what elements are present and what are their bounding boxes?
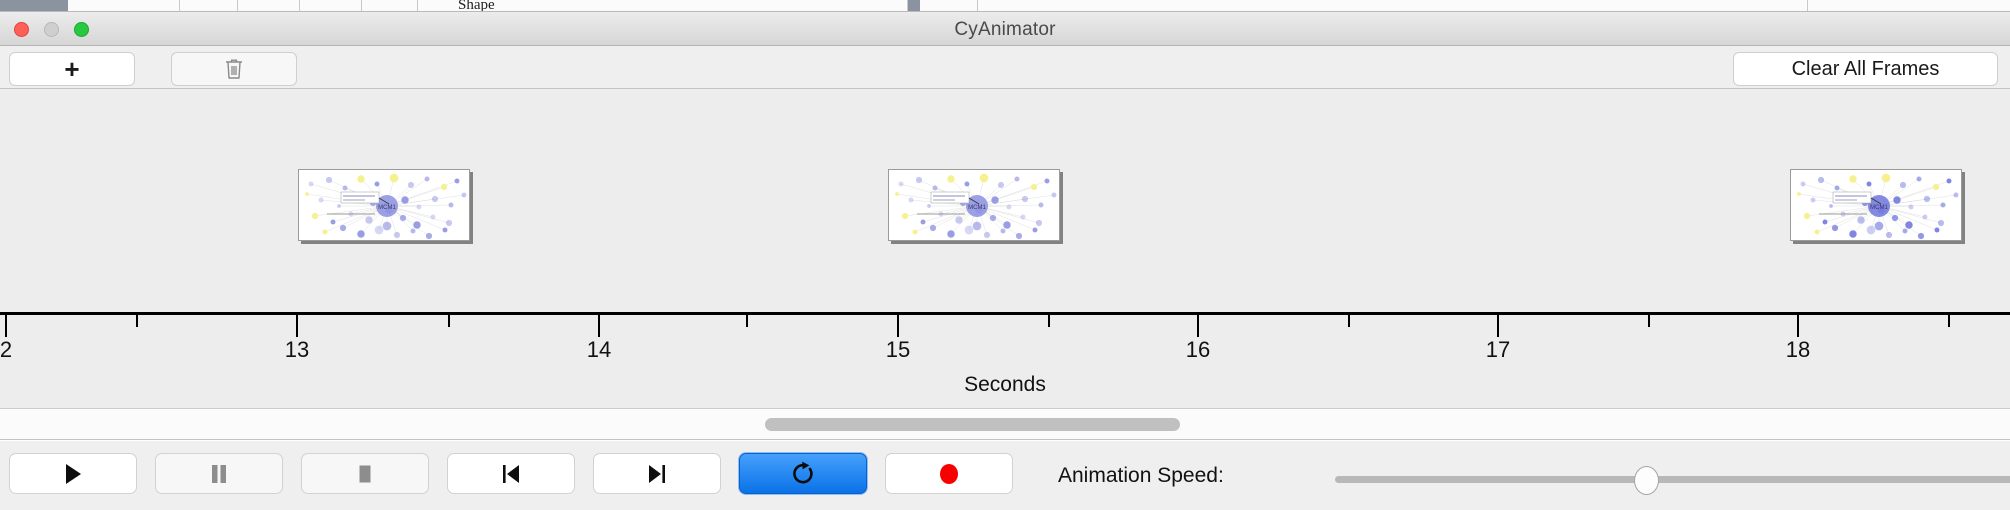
record-button[interactable] [885, 453, 1013, 494]
axis-tick [296, 315, 298, 337]
svg-text:MCM1: MCM1 [1870, 205, 1888, 211]
axis-tick [1048, 315, 1050, 327]
title-bar: CyAnimator [0, 12, 2010, 46]
axis-tick [1497, 315, 1499, 337]
stop-icon [354, 462, 376, 486]
axis-tick-label: 16 [1186, 337, 1210, 363]
skip-back-icon [499, 462, 523, 486]
plus-icon: + [64, 56, 79, 82]
pause-button[interactable] [155, 453, 283, 494]
animation-speed-slider-thumb[interactable] [1634, 466, 1659, 495]
trash-icon [224, 57, 244, 81]
axis-tick [746, 315, 748, 327]
axis-tick [1648, 315, 1650, 327]
record-icon [937, 461, 961, 487]
axis-tick-label: 14 [587, 337, 611, 363]
stop-button[interactable] [301, 453, 429, 494]
cyanimator-window: Shape CyAnimator + Clear All Frames 2131… [0, 0, 2010, 510]
frame-thumbnail[interactable]: MCM1 [1790, 169, 1962, 241]
frame-thumbnail[interactable]: MCM1 [298, 169, 470, 241]
background-window-strip: Shape [0, 0, 2010, 12]
skip-forward-icon [645, 462, 669, 486]
axis-tick [136, 315, 138, 327]
playback-bar: Animation Speed: [0, 441, 2010, 510]
axis-tick [1948, 315, 1950, 327]
loop-button[interactable] [739, 453, 867, 494]
svg-text:MCM1: MCM1 [968, 205, 986, 211]
timeline-panel[interactable]: 2131415161718 MCM1MCM1MCM1 Seconds [0, 89, 2010, 409]
axis-tick [448, 315, 450, 327]
timeline-axis [0, 312, 2010, 315]
axis-tick [1197, 315, 1199, 337]
axis-tick-label: 13 [285, 337, 309, 363]
axis-tick [1348, 315, 1350, 327]
toolbar: + Clear All Frames [0, 46, 2010, 89]
axis-tick-label: 18 [1786, 337, 1810, 363]
clear-all-frames-button[interactable]: Clear All Frames [1733, 52, 1998, 86]
skip-to-start-button[interactable] [447, 453, 575, 494]
pause-icon [208, 462, 230, 486]
play-icon [62, 462, 84, 486]
scrollbar-thumb[interactable] [765, 418, 1180, 431]
skip-to-end-button[interactable] [593, 453, 721, 494]
delete-frame-button[interactable] [171, 52, 297, 86]
axis-tick [897, 315, 899, 337]
frame-thumbnail[interactable]: MCM1 [888, 169, 1060, 241]
window-title: CyAnimator [0, 19, 2010, 41]
animation-speed-slider[interactable] [1335, 476, 2010, 483]
axis-tick-label: 17 [1486, 337, 1510, 363]
background-window-label: Shape [458, 0, 495, 12]
axis-tick [1797, 315, 1799, 337]
axis-tick-label: 2 [0, 337, 12, 363]
add-frame-button[interactable]: + [9, 52, 135, 86]
play-button[interactable] [9, 453, 137, 494]
animation-speed-label: Animation Speed: [1058, 464, 1224, 488]
loop-icon [791, 461, 815, 487]
horizontal-scrollbar[interactable] [0, 410, 2010, 440]
svg-text:MCM1: MCM1 [378, 205, 396, 211]
axis-title: Seconds [0, 373, 2010, 397]
axis-tick [5, 315, 7, 337]
axis-tick-label: 15 [886, 337, 910, 363]
axis-tick [598, 315, 600, 337]
